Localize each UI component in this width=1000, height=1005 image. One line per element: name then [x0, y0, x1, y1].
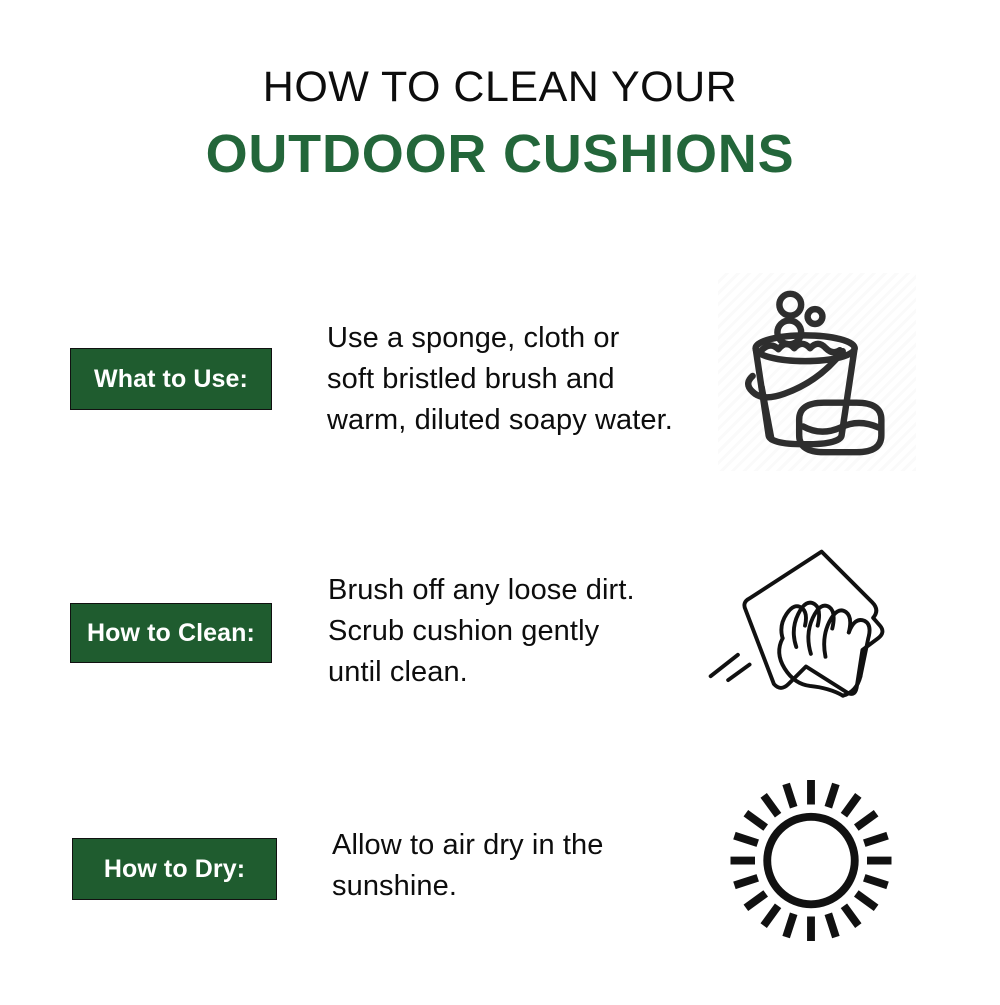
step-row-how-to-dry: How to Dry: Allow to air dry in the suns…	[0, 775, 1000, 1005]
step-icon-area-how-to-clean	[708, 540, 904, 720]
page-title-line-2: OUTDOOR CUSHIONS	[0, 109, 1000, 181]
step-text-how-to-dry: Allow to air dry in the sunshine.	[332, 825, 732, 907]
page-title-line-1: HOW TO CLEAN YOUR	[0, 0, 1000, 109]
step-icon-area-what-to-use	[718, 273, 916, 471]
step-label-how-to-dry: How to Dry:	[72, 838, 277, 900]
step-text-how-to-clean: Brush off any loose dirt. Scrub cushion …	[328, 570, 728, 693]
page-header: HOW TO CLEAN YOUR OUTDOOR CUSHIONS	[0, 0, 1000, 181]
step-text-what-to-use: Use a sponge, cloth or soft bristled bru…	[327, 318, 727, 441]
step-row-how-to-clean: How to Clean: Brush off any loose dirt. …	[0, 520, 1000, 750]
step-label-how-to-clean: How to Clean:	[70, 603, 272, 663]
step-label-what-to-use: What to Use:	[70, 348, 272, 410]
step-icon-area-how-to-dry	[714, 773, 908, 948]
hand-wiping-cloth-icon	[708, 540, 904, 720]
sun-icon	[714, 773, 908, 948]
step-row-what-to-use: What to Use: Use a sponge, cloth or soft…	[0, 255, 1000, 485]
bucket-sponge-icon	[718, 273, 916, 471]
